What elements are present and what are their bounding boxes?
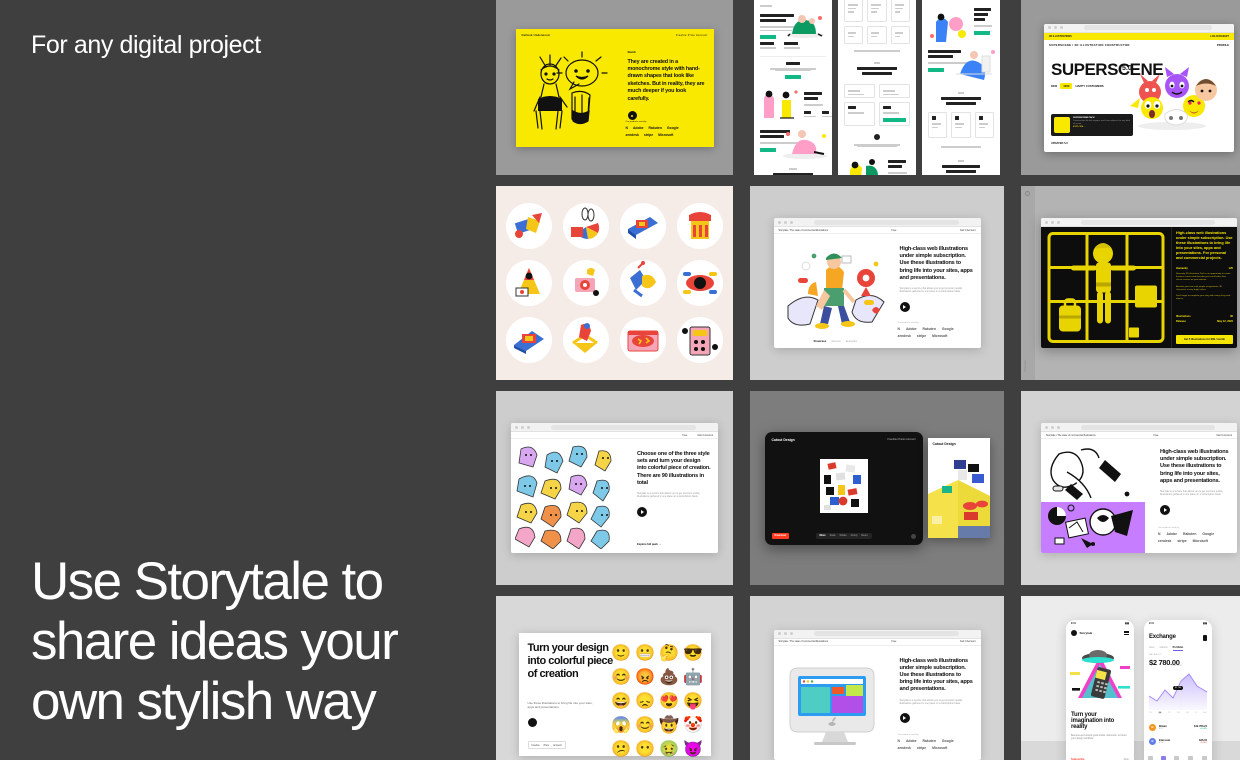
traveler-illustration	[780, 244, 892, 332]
emoji-item[interactable]: 🤔	[659, 643, 680, 664]
coin-row[interactable]: B Bitum BTC $19 780.24 +0.08%	[1149, 724, 1207, 731]
emoji-item[interactable]: 🤖	[683, 667, 704, 688]
play-button[interactable]	[1160, 505, 1170, 515]
brand-logo: Google	[942, 739, 954, 743]
storytale-logo-icon	[1071, 630, 1077, 636]
stat-label: HAPPY CUSTOMERS	[1075, 84, 1103, 88]
emoji-item[interactable]: 🙂	[611, 643, 632, 664]
brands-row-1: N Adobe Rakuten Google	[898, 739, 974, 743]
yellow-kicker: Sketch	[628, 51, 706, 54]
eyebrow-text: For any digital project	[31, 30, 261, 60]
purple-brands: Our products used by N Adobe Rakuten Goo…	[1158, 527, 1230, 546]
humanity-panel: High-class web illustrations under simpl…	[1171, 227, 1237, 348]
yellow-nav[interactable]: Freebie Price Account	[676, 34, 708, 38]
emoji-subcopy: Use these illustrations to bring life in…	[528, 701, 600, 710]
emoji-item[interactable]: 😈	[683, 739, 704, 760]
price-label: Free	[891, 229, 896, 232]
notch	[1167, 620, 1189, 624]
traffic-light-icon	[527, 426, 530, 429]
brands-row-1: N Adobe Rakuten Google	[1158, 532, 1230, 536]
left-panel: For any digital project Use Storytale to…	[0, 0, 496, 760]
emoji-item[interactable]: 😎	[683, 643, 704, 664]
imac-brands: Our products used by N Adobe Rakuten Goo…	[898, 734, 974, 753]
headline: Choose one of the three style sets and t…	[637, 451, 711, 487]
yellow-logo: Outlook Underwood	[522, 34, 550, 38]
brand-logo: zendesk	[626, 133, 639, 137]
backpack-browser-window: Storytale / The state of commercial illu…	[774, 218, 981, 348]
browser-chrome	[1044, 24, 1234, 33]
phone-left-copy: Turn your imagination into reality Becom…	[1071, 712, 1129, 741]
icon-circle[interactable]	[563, 203, 609, 249]
brand-logo: Rakuten	[923, 327, 936, 331]
brand-logo: Google	[942, 327, 954, 331]
footer-tab[interactable]: Price	[544, 744, 549, 747]
yellow-brands-row-1: N Adobe Rakuten Google	[626, 126, 706, 130]
nav-right[interactable]: LOG IN BASKET	[1210, 35, 1229, 38]
humanity-meta-2: Release May 12, 2022	[1176, 320, 1233, 323]
account-link[interactable]: Cart 0 Account	[697, 434, 713, 437]
status-icons: ▮▮▮	[1203, 622, 1207, 625]
range-tab[interactable]: 1M	[1186, 712, 1189, 714]
address-bar[interactable]	[1084, 25, 1212, 30]
traffic-light-icon	[1048, 26, 1051, 29]
showcase-grid: Outlook Underwood Freebie Price Account	[496, 0, 1240, 760]
superscene-footer: UPDATED 5.0	[1051, 142, 1068, 145]
range-tab[interactable]: 1D	[1168, 712, 1171, 714]
brand-logo: stripe	[917, 334, 926, 338]
phone-subcopy: Become and unlock great books, discounts…	[1071, 734, 1129, 741]
vintage-imac-illustration	[782, 666, 888, 748]
superscene-nav[interactable]: 3D ILLUSTRATIONS LOG IN BASKET	[1044, 33, 1234, 40]
purple-browser-window: Storytale / The state of commercial illu…	[1041, 423, 1237, 553]
traffic-light-icon	[515, 426, 518, 429]
tab-buy[interactable]: Buy	[1174, 756, 1179, 760]
brand-logo: zendesk	[898, 334, 911, 338]
browser-chrome	[774, 218, 981, 227]
bottom-tab-bar[interactable]: Home Trade Buy History Account	[1144, 756, 1212, 760]
site-subbar: Free Cart 0 Account	[511, 432, 718, 439]
close-icon[interactable]	[1025, 191, 1030, 196]
long-page-1	[754, 0, 832, 175]
brand-logo: Rakuten	[649, 126, 662, 130]
settings-icon[interactable]	[911, 534, 916, 539]
browser-chrome	[511, 423, 718, 432]
exchange-title: Exchange	[1149, 634, 1176, 640]
tablet-toolbar[interactable]: Move Scale Rotate Group Reset	[815, 533, 871, 539]
range-tab[interactable]: ALL	[1203, 712, 1207, 714]
card-long-pages[interactable]	[750, 0, 1004, 175]
card-colorful-pack[interactable]: Free Cart 0 Account	[496, 391, 733, 585]
icon-grid	[506, 203, 723, 363]
yellow-brands-row-2: zendesk stripe Microsoft	[626, 133, 706, 137]
purple-abstract-illustration	[1041, 440, 1145, 553]
imac-copy: High-class web illustrations under simpl…	[900, 658, 974, 724]
imac-browser-window: Storytale / The state of commercial illu…	[774, 630, 981, 760]
chart-date-label: 12 AUG 2022	[1171, 665, 1182, 667]
tab-active[interactable]: Portfolio	[1173, 646, 1184, 651]
brands-row-1: N Adobe Rakuten Google	[898, 327, 974, 331]
play-button[interactable]	[528, 718, 537, 727]
humanity-body-1: Humanity 3D illustration Pack is an oppo…	[1176, 273, 1233, 283]
toolbar-item[interactable]: Scale	[830, 534, 836, 537]
phone-storytale: 9:41 ▮▮▮ Storytale	[1066, 620, 1134, 760]
subcopy: Storytale is a service that allows you t…	[637, 492, 711, 499]
traffic-light-icon	[1057, 221, 1060, 224]
emoji-item[interactable]: 😶	[635, 739, 656, 760]
page2-illustration	[842, 158, 884, 175]
card-emoji-page[interactable]: Turn your design into colorful piece of …	[496, 596, 733, 760]
emoji-item[interactable]: 😱	[611, 715, 632, 736]
card-humanity-black[interactable]: Storytale	[1021, 186, 1240, 380]
page1-illustration-b	[758, 88, 800, 122]
range-tab[interactable]: 1W	[1177, 712, 1180, 714]
emoji-item[interactable]: 😄	[611, 691, 632, 712]
chart-svg	[1149, 670, 1207, 710]
emoji-item[interactable]: 😝	[683, 691, 704, 712]
pack-name: Humanity	[1176, 267, 1188, 270]
emoji-item[interactable]: 😕	[611, 739, 632, 760]
brand-logo: Rakuten	[923, 739, 936, 743]
traffic-light-icon	[1051, 221, 1054, 224]
tab-account[interactable]: Account	[1201, 756, 1208, 760]
price-label: Free	[682, 434, 687, 437]
backpack-brands: Our products used by N Adobe Rakuten Goo…	[898, 322, 974, 341]
footer-tab[interactable]: Account	[553, 744, 562, 747]
tablet-title: Cutout Design	[772, 438, 795, 442]
yellow-browser-window: Outlook Underwood Freebie Price Account	[516, 29, 714, 147]
brand-logo: N	[1158, 532, 1160, 536]
icon-circle[interactable]	[506, 260, 552, 306]
brand-logo: zendesk	[1158, 539, 1171, 543]
traffic-light-icon	[1060, 26, 1063, 29]
page-headline: Use Storytale to share ideas your own st…	[31, 552, 451, 732]
meta-label: Illustrations	[1176, 315, 1191, 318]
notch	[1089, 620, 1111, 624]
superscene-account[interactable]: PROFILE	[1217, 43, 1229, 47]
site-subbar: Storytale / The state of commercial illu…	[1041, 432, 1237, 439]
yellow-brands: Our products used by N Adobe Rakuten Goo…	[626, 121, 706, 140]
brand-logo: Adobe	[906, 739, 917, 743]
meta-value: 36	[1230, 315, 1233, 318]
menu-icon[interactable]	[1124, 631, 1129, 635]
emoji-item[interactable]: 😍	[659, 691, 680, 712]
coin-icon: B	[1149, 724, 1156, 731]
icon-circle[interactable]	[620, 260, 666, 306]
stat-pill: 1200	[1060, 83, 1072, 89]
traffic-light-icon	[778, 221, 781, 224]
chart-tooltip: $2 780	[1173, 686, 1183, 690]
brand-logo: Microsoft	[932, 746, 947, 750]
subscribe-link[interactable]: Subscribe	[1071, 757, 1085, 760]
tab[interactable]: Market	[1160, 646, 1168, 651]
tablet-device: Cutout Design Freebies Prices Account	[765, 432, 923, 545]
balance-label: BALANCE	[1149, 654, 1161, 656]
emoji-item[interactable]: 💩	[659, 667, 680, 688]
headline: High-class web illustrations under simpl…	[1160, 449, 1230, 485]
home-icon	[1148, 756, 1153, 760]
buy-icon	[1174, 756, 1179, 760]
range-tab[interactable]: 1H	[1149, 712, 1152, 714]
browser-chrome	[1041, 423, 1237, 432]
brands-row-2: zendesk stripe Microsoft	[898, 746, 974, 750]
emoji-item[interactable]: 😊	[611, 667, 632, 688]
traffic-light-icon	[784, 632, 787, 635]
nav-items[interactable]: 3D ILLUSTRATIONS	[1049, 35, 1072, 38]
brand-logo: Google	[1202, 532, 1214, 536]
long-page-3	[922, 0, 1000, 175]
play-button[interactable]	[900, 302, 910, 312]
traffic-light-icon	[790, 221, 793, 224]
poster-card[interactable]: Cutout Design	[928, 438, 990, 538]
brand-logo: Google	[667, 126, 679, 130]
breadcrumb: Storytale / The state of commercial illu…	[779, 640, 829, 643]
icon-circle[interactable]	[506, 203, 552, 249]
card-icon-circles[interactable]	[496, 186, 733, 380]
tablet-canvas	[820, 459, 868, 513]
skip-link[interactable]: Skip	[1124, 757, 1129, 760]
coin-change: +0.08%	[1194, 728, 1207, 730]
brands-label: Our products used by	[898, 734, 974, 736]
pack-count: 120	[1229, 267, 1233, 270]
colorful-creature-grid	[515, 441, 623, 549]
icon-circle[interactable]	[677, 260, 723, 306]
icon-circle[interactable]	[677, 203, 723, 249]
history-icon	[1188, 756, 1193, 760]
emoji-footer-tabs[interactable]: Freebie Price Account	[528, 741, 566, 749]
brand-logo: N	[898, 327, 900, 331]
subcopy: Storytale is a service that allows you t…	[900, 287, 974, 294]
poster-isometric-illustration	[928, 454, 990, 538]
address-bar[interactable]	[814, 220, 959, 225]
emoji-headline: Turn your design into colorful piece of …	[528, 642, 614, 680]
tab-trade[interactable]: Trade	[1161, 756, 1166, 760]
humanity-pack-row: Humanity 120	[1176, 267, 1233, 270]
balance-area-chart: 12 AUG 2022 $2 780	[1149, 670, 1207, 710]
site-subbar: Storytale / The state of commercial illu…	[774, 639, 981, 646]
poster-title: Cutout Design	[933, 442, 956, 446]
colorful-browser-window: Free Cart 0 Account	[511, 423, 718, 553]
traffic-light-icon	[1051, 426, 1054, 429]
traffic-light-icon	[521, 426, 524, 429]
exchange-tabs[interactable]: Hour Market Portfolio	[1149, 646, 1183, 651]
superscene-breadcrumb: SUPERSCENE / 3D ILLUSTRATION CONSTRUCTOR	[1049, 43, 1130, 47]
headline: High-class web illustrations under simpl…	[900, 246, 974, 282]
status-time: 9:41	[1149, 622, 1154, 625]
superscene-3d-characters	[1120, 62, 1224, 132]
toolbar-item[interactable]: Move	[819, 534, 825, 537]
account-icon	[1202, 756, 1207, 760]
toolbar-item[interactable]: Group	[851, 534, 858, 537]
play-button[interactable]	[900, 713, 910, 723]
card-webpage-backpack[interactable]: Storytale / The state of commercial illu…	[750, 186, 1004, 380]
superscene-promo-card[interactable]: SUPERSCENE PACK Construction kit with or…	[1051, 114, 1133, 136]
coin-ticker: BTC	[1159, 728, 1167, 730]
icon-circle[interactable]	[620, 203, 666, 249]
address-bar[interactable]	[1081, 425, 1215, 430]
brands-row-2: zendesk stripe Microsoft	[1158, 539, 1230, 543]
glitch-phone-illustration	[1068, 642, 1132, 706]
footer-tabs[interactable]: Showcase Sources Examples	[814, 340, 858, 343]
icon-circle[interactable]	[620, 317, 666, 363]
emoji-item[interactable]: 🤢	[659, 739, 680, 760]
address-bar[interactable]	[814, 631, 959, 636]
emoji-window: Turn your design into colorful piece of …	[519, 633, 711, 756]
emoji-item[interactable]: 🤡	[683, 715, 704, 736]
brand-logo: Microsoft	[658, 133, 673, 137]
price-label: Free	[891, 640, 896, 643]
traffic-light-icon	[778, 632, 781, 635]
page1-illustration-a	[782, 12, 828, 38]
brand-logo: Microsoft	[932, 334, 947, 338]
yellow-play-button[interactable]	[628, 111, 637, 120]
toolbar-item[interactable]: Reset	[861, 534, 867, 537]
card-superscene[interactable]: 3D ILLUSTRATIONS LOG IN BASKET SUPERSCEN…	[1021, 0, 1240, 175]
humanity-cta-button[interactable]: Get 5 Illustrations for $89 / month	[1176, 335, 1233, 344]
address-bar[interactable]	[1081, 220, 1215, 225]
site-subbar: Storytale / The state of commercial illu…	[774, 227, 981, 234]
footer-tab[interactable]: Examples	[846, 340, 857, 343]
promo-thumbnail	[1054, 117, 1070, 133]
icon-circle[interactable]	[563, 317, 609, 363]
brand-logo: stripe	[917, 746, 926, 750]
footer-tab[interactable]: Sources	[831, 340, 841, 343]
brand-logo: N	[898, 739, 900, 743]
brand-row: Storytale	[1071, 630, 1092, 636]
humanity-browser-window: High-class web illustrations under simpl…	[1041, 218, 1237, 348]
humanity-figurine-illustration	[1041, 227, 1171, 348]
page3-illustration-b	[950, 48, 998, 80]
emoji-item[interactable]: 😊	[635, 715, 656, 736]
tab-history[interactable]: History	[1187, 756, 1193, 760]
yellow-headline: They are created in a monochrome style w…	[628, 59, 706, 103]
footer-tab[interactable]: Showcase	[814, 340, 827, 343]
brand-logo: zendesk	[898, 746, 911, 750]
traffic-light-icon	[790, 632, 793, 635]
yellow-copy-block: Sketch They are created in a monochrome …	[628, 51, 706, 120]
purple-copy: High-class web illustrations under simpl…	[1160, 449, 1230, 515]
card-imac-page[interactable]: Storytale / The state of commercial illu…	[750, 596, 1004, 760]
tablet-nav[interactable]: Freebies Prices Account	[888, 438, 916, 441]
yellow-topbar: Outlook Underwood Freebie Price Account	[522, 34, 708, 38]
brand-logo: stripe	[644, 133, 653, 137]
range-tab-active[interactable]: 4H	[1158, 712, 1163, 714]
traffic-light-icon	[784, 221, 787, 224]
coin-change: -1.40%	[1199, 742, 1207, 744]
stat-value: 8430	[1051, 84, 1057, 88]
humanity-body-3: Don't forget to complete your story with…	[1176, 295, 1233, 301]
address-bar[interactable]	[551, 425, 696, 430]
sidebar-label: Storytale	[1023, 360, 1027, 372]
range-tab[interactable]: 1Y	[1195, 712, 1197, 714]
brand-logo: stripe	[1177, 539, 1186, 543]
meta-label: Release	[1176, 320, 1186, 323]
account-link[interactable]: Cart 0 Account	[1216, 434, 1232, 437]
phone-exchange: 9:41 ▮▮▮ Exchange Hour Market Portfolio …	[1144, 620, 1212, 760]
icon-circle[interactable]	[563, 260, 609, 306]
icon-circle[interactable]	[677, 317, 723, 363]
humanity-stage	[1041, 227, 1171, 348]
explore-full-pack-link[interactable]: Explore full pack →	[637, 543, 711, 546]
monochrome-sketch-illustration	[526, 49, 614, 135]
page1-illustration-c	[780, 126, 830, 160]
long-page-2	[838, 0, 916, 175]
emoji-item[interactable]: 🤠	[659, 715, 680, 736]
superscene-stats: 8430 1200 HAPPY CUSTOMERS	[1051, 83, 1104, 89]
chart-range-tabs[interactable]: 1H 4H 1D 1W 1M 1Y ALL	[1149, 712, 1207, 714]
poster-canvas: For any digital project Use Storytale to…	[0, 0, 1240, 760]
traffic-light-icon	[1057, 426, 1060, 429]
wallet-icon[interactable]	[1203, 635, 1207, 641]
brand-logo: Microsoft	[1193, 539, 1208, 543]
traffic-light-icon	[1054, 26, 1057, 29]
card-webpage-purple[interactable]: Storytale / The state of commercial illu…	[1021, 391, 1240, 585]
emoji-grid: 🙂 😬 🤔 😎 😊 😡 💩 🤖 😄 😞 😍 😝 😱 😊 🤠 🤡	[611, 643, 704, 760]
account-link[interactable]: Cart 0 Account	[960, 229, 976, 232]
brand-logo: Adobe	[1166, 532, 1177, 536]
page3-illustration-a	[926, 12, 970, 46]
toolbar-item[interactable]: Rotate	[840, 534, 847, 537]
phone-headline: Turn your imagination into reality	[1071, 712, 1129, 730]
browser-chrome	[774, 630, 981, 639]
brands-row-2: zendesk stripe Microsoft	[898, 334, 974, 338]
status-icons: ▮▮▮	[1125, 622, 1129, 625]
card-cutout-tablet[interactable]: Cutout Design Freebies Prices Account	[750, 391, 1004, 585]
subcopy: Storytale is a service that allows you t…	[1160, 490, 1230, 497]
download-button[interactable]: Download	[772, 533, 789, 539]
brand-logo: Adobe	[906, 327, 917, 331]
emoji-item[interactable]: 😞	[635, 691, 656, 712]
brand-name: Storytale	[1080, 631, 1093, 635]
coin-icon: E	[1149, 738, 1156, 745]
footer-tab[interactable]: Freebie	[532, 744, 540, 747]
card-yellow-hero[interactable]: Outlook Underwood Freebie Price Account	[496, 0, 733, 175]
meta-value: May 12, 2022	[1217, 320, 1233, 323]
account-link[interactable]: Cart 0 Account	[960, 640, 976, 643]
humanity-headline: High-class web illustrations under simpl…	[1176, 231, 1233, 261]
backpack-copy: High-class web illustrations under simpl…	[900, 246, 974, 312]
breadcrumb: Storytale / The state of commercial illu…	[779, 229, 829, 232]
yellow-brands-label: Our products used by	[626, 121, 706, 123]
coin-ticker: ETH	[1159, 742, 1170, 744]
card-phone-mockups[interactable]: 9:41 ▮▮▮ Storytale	[1021, 596, 1240, 760]
traffic-light-icon	[1045, 221, 1048, 224]
browser-chrome	[1041, 218, 1237, 227]
humanity-body-2: Animate your new cool people assignments…	[1176, 286, 1233, 292]
price-label: Free	[1153, 434, 1158, 437]
superscene-browser-window: 3D ILLUSTRATIONS LOG IN BASKET SUPERSCEN…	[1044, 24, 1234, 152]
icon-circle[interactable]	[506, 317, 552, 363]
tab-home[interactable]: Home	[1148, 756, 1153, 760]
play-button[interactable]	[637, 507, 647, 517]
trade-icon	[1161, 756, 1166, 760]
coin-row[interactable]: E Etereum ETH $48.04 -1.40%	[1149, 738, 1207, 745]
brand-logo: N	[626, 126, 628, 130]
tab[interactable]: Hour	[1149, 646, 1155, 651]
promo-link[interactable]: EXPLORE →	[1073, 126, 1130, 129]
emoji-item[interactable]: 😬	[635, 643, 656, 664]
status-time: 9:41	[1071, 622, 1076, 625]
humanity-meta-1: Illustrations 36	[1176, 315, 1233, 318]
brands-label: Our products used by	[1158, 527, 1230, 529]
emoji-item[interactable]: 😡	[635, 667, 656, 688]
colorful-copy: Choose one of the three style sets and t…	[637, 451, 711, 517]
humanity-sidebar: Storytale	[1021, 186, 1035, 380]
breadcrumb: Storytale / The state of commercial illu…	[1046, 434, 1096, 437]
brand-logo: Rakuten	[1183, 532, 1196, 536]
brand-logo: Adobe	[633, 126, 644, 130]
cutout-objects-illustration	[820, 459, 868, 513]
traffic-light-icon	[1045, 426, 1048, 429]
